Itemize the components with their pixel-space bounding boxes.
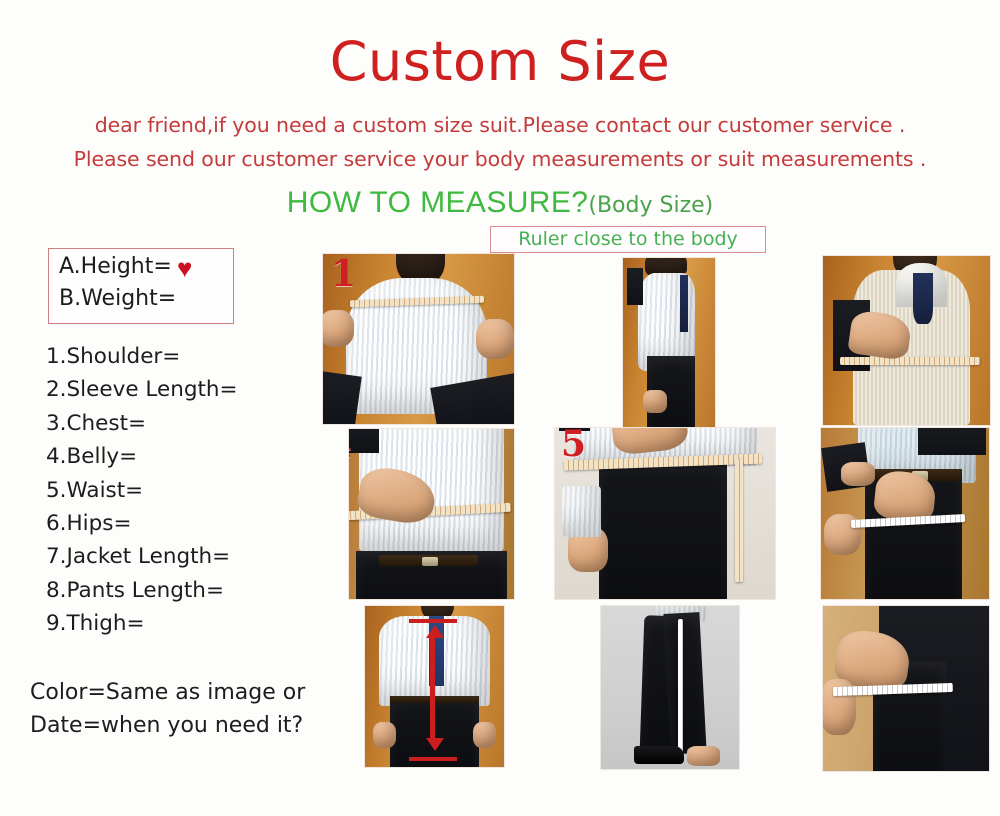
how-to-measure-main: HOW TO MEASURE? (287, 186, 589, 219)
list-item: 9.Thigh= (46, 607, 316, 640)
photo-number: 5 (561, 427, 586, 462)
list-item: 3.Chest= (46, 407, 316, 440)
photo-shoulder: 1 (322, 253, 515, 425)
jacket-length-arrow-up (426, 625, 444, 638)
photo-pants-length: 8 (600, 605, 740, 770)
weight-label: B.Weight= (59, 286, 176, 311)
jacket-length-arrow-down (426, 738, 444, 751)
photo-sleeve-length: 2 (622, 257, 716, 428)
photo-belly: 4 (348, 428, 515, 600)
custom-size-infographic: Custom Size dear friend,if you need a cu… (0, 0, 1000, 816)
how-to-measure-heading: HOW TO MEASURE?(Body Size) (0, 186, 1000, 220)
list-item: 1.Shoulder= (46, 340, 316, 373)
jacket-length-bottom-cap (409, 757, 456, 761)
measurement-list: 1.Shoulder= 2.Sleeve Length= 3.Chest= 4.… (46, 340, 316, 641)
photo-number: 1 (331, 256, 356, 292)
list-item: 5.Waist= (46, 474, 316, 507)
ruler-note-box: Ruler close to the body (490, 226, 766, 253)
page-title: Custom Size (0, 34, 1000, 91)
intro-line-2: Please send our customer service your bo… (0, 147, 1000, 171)
date-note: Date=when you need it? (30, 709, 340, 742)
list-item: 7.Jacket Length= (46, 540, 316, 573)
photo-chest: 3 (822, 255, 991, 426)
jacket-length-arrow-line (430, 638, 435, 738)
ruler-note-text: Ruler close to the body (491, 227, 765, 251)
intro-line-1: dear friend,if you need a custom size su… (0, 113, 1000, 137)
photo-hips: 6 (820, 427, 990, 600)
list-item: 4.Belly= (46, 440, 316, 473)
photo-number: 4 (348, 428, 352, 463)
photo-thigh: 9 (822, 605, 990, 772)
list-item: 6.Hips= (46, 507, 316, 540)
footnote-block: Color=Same as image or Date=when you nee… (30, 676, 340, 742)
height-weight-box: A.Height= B.Weight= ♥ (48, 248, 234, 324)
how-to-measure-sub: (Body Size) (588, 193, 713, 218)
photo-jacket-length: 7 (364, 605, 505, 768)
height-label: A.Height= (59, 254, 172, 279)
color-note: Color=Same as image or (30, 676, 340, 709)
list-item: 2.Sleeve Length= (46, 373, 316, 406)
list-item: 8.Pants Length= (46, 574, 316, 607)
photo-waist: 5 (554, 427, 776, 600)
jacket-length-top-cap (409, 619, 456, 623)
heart-icon: ♥ (177, 255, 192, 281)
